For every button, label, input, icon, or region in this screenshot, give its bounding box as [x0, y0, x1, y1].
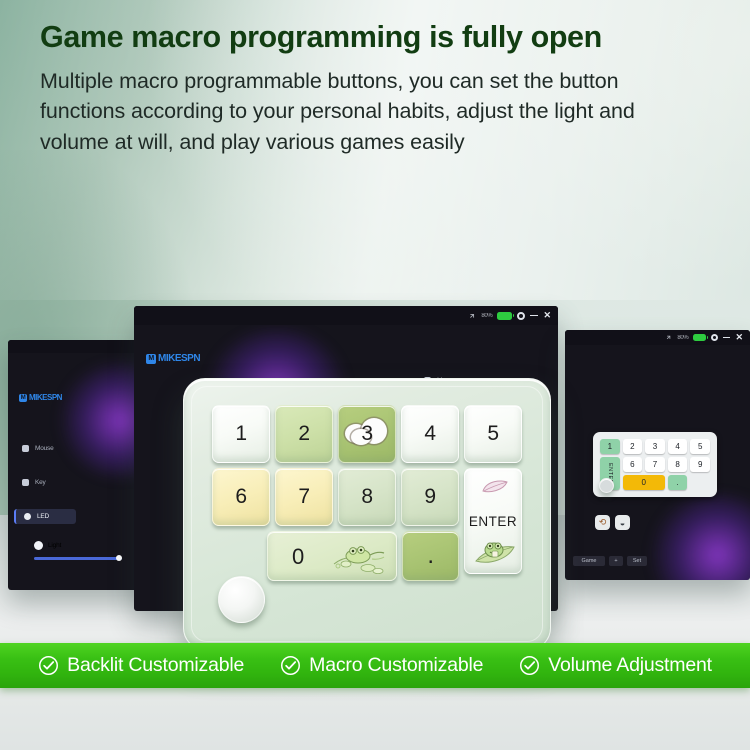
- feature-backlit: Backlit Customizable: [38, 654, 244, 677]
- close-icon[interactable]: ✕: [543, 311, 551, 320]
- preview-key-9[interactable]: 9: [690, 457, 710, 472]
- preview-key-dot[interactable]: .: [668, 475, 688, 490]
- logo-mark: M: [146, 354, 156, 364]
- undo-icon[interactable]: ⟲: [595, 515, 610, 530]
- bottom-toolbar-right: Game + Set: [573, 556, 647, 566]
- feature-macro: Macro Customizable: [280, 654, 483, 677]
- key-label: ENTER: [469, 514, 517, 529]
- link-icon[interactable]: [665, 334, 672, 341]
- feature-label: Volume Adjustment: [548, 654, 712, 677]
- brand-name: MIKESPN: [29, 393, 62, 402]
- keypad-preview-grid: 1 2 3 4 5 6 7 8 9 ENTER 0 .: [600, 439, 710, 490]
- key-label: .: [427, 552, 433, 560]
- key-4[interactable]: 4: [401, 405, 459, 463]
- preview-key-3[interactable]: 3: [645, 439, 665, 454]
- battery-percent: 80%: [481, 313, 492, 319]
- preview-knob[interactable]: [599, 478, 614, 493]
- sidebar-item-key[interactable]: Key: [14, 475, 76, 490]
- brand-logo-center: M MIKESPN: [146, 353, 200, 364]
- slider-track[interactable]: [34, 557, 122, 560]
- monitor-right: 80% ✕ 1 2 3 4 5 6 7 8 9 ENTER: [565, 330, 750, 580]
- preview-key-1[interactable]: 1: [600, 439, 620, 454]
- feature-bar: Backlit Customizable Macro Customizable …: [0, 643, 750, 688]
- sidebar-item-label: LED: [37, 513, 49, 520]
- slider-label: Light: [48, 542, 61, 549]
- key-label: 9: [424, 485, 435, 509]
- key-label: 3: [361, 422, 372, 446]
- light-slider-left[interactable]: Light: [34, 541, 134, 550]
- toolbar-game-button[interactable]: Game: [573, 556, 605, 566]
- link-icon[interactable]: [468, 312, 476, 320]
- battery-percent: 80%: [677, 335, 688, 341]
- keypad-preview: 1 2 3 4 5 6 7 8 9 ENTER 0 .: [593, 432, 717, 497]
- key-7[interactable]: 7: [275, 468, 333, 526]
- key-icon: [22, 479, 29, 486]
- key-8[interactable]: 8: [338, 468, 396, 526]
- close-icon[interactable]: ✕: [735, 333, 743, 342]
- key-label: 1: [235, 422, 246, 446]
- keypad-surface: 1 2 3 4 5 6 7 8 9: [212, 405, 526, 627]
- gear-icon[interactable]: [711, 334, 718, 341]
- battery-icon: [497, 312, 512, 320]
- key-dot[interactable]: .: [402, 531, 459, 581]
- preview-key-4[interactable]: 4: [668, 439, 688, 454]
- key-0[interactable]: 0: [267, 531, 397, 581]
- nav-list-left: Mouse Key LED: [14, 441, 76, 524]
- brand-logo-left: M MIKESPN: [19, 393, 62, 402]
- page-title: Game macro programming is fully open: [40, 20, 710, 55]
- check-circle-icon: [280, 655, 301, 676]
- titlebar-right: 80% ✕: [565, 330, 750, 345]
- frog-on-leaf-icon: [474, 537, 516, 565]
- preview-key-6[interactable]: 6: [623, 457, 643, 472]
- feature-label: Backlit Customizable: [67, 654, 244, 677]
- key-label: 2: [298, 422, 309, 446]
- check-circle-icon: [519, 655, 540, 676]
- macro-keypad-device: 1 2 3 4 5 6 7 8 9: [183, 378, 551, 650]
- preview-action-icons: ⟲ ◒: [595, 515, 630, 530]
- titlebar-center: 80% ✕: [134, 306, 558, 325]
- key-6[interactable]: 6: [212, 468, 270, 526]
- minimize-icon[interactable]: [723, 337, 730, 339]
- sidebar-item-label: Key: [35, 479, 46, 486]
- gear-icon[interactable]: [517, 312, 525, 320]
- logo-mark: M: [19, 394, 27, 402]
- feature-label: Macro Customizable: [309, 654, 483, 677]
- preview-key-5[interactable]: 5: [690, 439, 710, 454]
- layers-icon[interactable]: ◒: [615, 515, 630, 530]
- sidebar-item-led[interactable]: LED: [14, 509, 76, 524]
- preview-key-2[interactable]: 2: [623, 439, 643, 454]
- key-3[interactable]: 3: [338, 405, 396, 463]
- key-9[interactable]: 9: [401, 468, 459, 526]
- brand-name: MIKESPN: [158, 353, 200, 364]
- key-label: 4: [424, 422, 435, 446]
- key-2[interactable]: 2: [275, 405, 333, 463]
- key-label: 8: [361, 485, 372, 509]
- screen-right: 1 2 3 4 5 6 7 8 9 ENTER 0 . ⟲ ◒: [565, 345, 750, 580]
- key-label: 7: [298, 485, 309, 509]
- key-label: 5: [487, 422, 498, 446]
- leaf-icon: [482, 479, 508, 493]
- key-label: 6: [235, 485, 246, 509]
- key-1[interactable]: 1: [212, 405, 270, 463]
- page-subtitle: Multiple macro programmable buttons, you…: [40, 66, 640, 158]
- sidebar-item-mouse[interactable]: Mouse: [14, 441, 76, 456]
- toolbar-add-button[interactable]: +: [609, 556, 623, 566]
- toolbar-set-button[interactable]: Set: [627, 556, 647, 566]
- preview-key-7[interactable]: 7: [645, 457, 665, 472]
- check-circle-icon: [38, 655, 59, 676]
- key-5[interactable]: 5: [464, 405, 522, 463]
- led-icon: [24, 513, 31, 520]
- key-enter[interactable]: ENTER: [464, 468, 522, 574]
- minimize-icon[interactable]: [530, 315, 538, 317]
- frog-icon: [328, 538, 390, 578]
- preview-key-0[interactable]: 0: [623, 475, 665, 490]
- feature-volume: Volume Adjustment: [519, 654, 712, 677]
- key-label: 0: [292, 544, 304, 570]
- preview-key-8[interactable]: 8: [668, 457, 688, 472]
- header-block: Game macro programming is fully open Mul…: [40, 20, 710, 157]
- mouse-icon: [22, 445, 29, 452]
- sidebar-item-label: Mouse: [35, 445, 54, 452]
- screen-glow: [645, 495, 750, 580]
- slider-knob[interactable]: [116, 555, 122, 561]
- slider-handle-icon: [34, 541, 43, 550]
- battery-icon: [693, 334, 706, 341]
- volume-knob[interactable]: [218, 576, 265, 623]
